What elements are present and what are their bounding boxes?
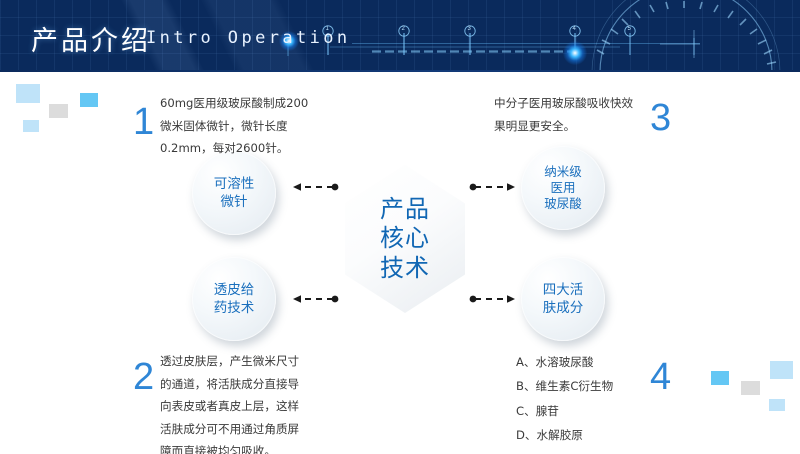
block-one-text: 60mg医用级玻尿酸制成200 微米固体微针，微针长度 0.2mm，每对2600… bbox=[160, 92, 308, 160]
block-four-list: A、水溶玻尿酸 B、维生素C衍生物 C、腺苷 D、水解胶原 bbox=[516, 350, 613, 447]
block-two-number: 2 bbox=[133, 356, 154, 399]
node-bl-line-2: 药技术 bbox=[214, 299, 255, 317]
header-glow-dot-right bbox=[563, 41, 587, 65]
block-three-line-1: 中分子医用玻尿酸吸收快效 bbox=[494, 92, 633, 115]
ruler-tick-1: 1 bbox=[326, 26, 329, 32]
node-top-left[interactable]: 可溶性 微针 bbox=[192, 151, 276, 235]
connector-top-right bbox=[467, 180, 525, 194]
decor-square-br-3 bbox=[711, 371, 729, 385]
node-bottom-right-label: 四大活 肤成分 bbox=[543, 281, 584, 317]
block-three-text: 中分子医用玻尿酸吸收快效 果明显更安全。 bbox=[494, 92, 633, 137]
block-one-number: 1 bbox=[133, 101, 154, 144]
block-two-line-3: 向表皮或者真皮上层，这样 bbox=[160, 395, 299, 418]
decor-square-tl-1 bbox=[16, 84, 40, 103]
node-bottom-left[interactable]: 透皮给 药技术 bbox=[192, 257, 276, 341]
ruler-tick-2: 2 bbox=[402, 26, 405, 32]
node-top-right[interactable]: 纳米级 医用 玻尿酸 bbox=[521, 146, 605, 230]
page-subtitle: Intro Operation bbox=[146, 28, 351, 48]
node-tr-line-1: 纳米级 bbox=[544, 164, 582, 180]
connector-top-left bbox=[283, 180, 341, 194]
ruler-tick-4: 4 bbox=[573, 26, 576, 32]
decor-square-tl-2 bbox=[49, 104, 68, 118]
decor-square-br-4 bbox=[769, 399, 785, 411]
hex-line-3: 技术 bbox=[380, 254, 430, 283]
node-bottom-left-label: 透皮给 药技术 bbox=[214, 281, 255, 317]
block-two-text: 透过皮肤层，产生微米尺寸 的通道，将活肤成分直接导 向表皮或者真皮上层，这样 活… bbox=[160, 350, 299, 454]
block-one-line-3: 0.2mm，每对2600针。 bbox=[160, 137, 308, 160]
node-bl-line-1: 透皮给 bbox=[214, 281, 255, 299]
block-three-line-2: 果明显更安全。 bbox=[494, 115, 633, 138]
block-two-line-2: 的通道，将活肤成分直接导 bbox=[160, 373, 299, 396]
connector-bottom-right bbox=[467, 292, 525, 306]
block-three-number: 3 bbox=[650, 97, 671, 140]
list-item: B、维生素C衍生物 bbox=[516, 374, 613, 398]
decor-square-br-1 bbox=[770, 361, 793, 379]
header-bottom-rule bbox=[0, 70, 800, 72]
node-tr-line-2: 医用 bbox=[544, 180, 582, 196]
block-one-line-1: 60mg医用级玻尿酸制成200 bbox=[160, 92, 308, 115]
connector-bottom-left bbox=[283, 292, 341, 306]
slide-header: 产品介绍 Intro Operation 1 2 3 4 5 bbox=[0, 0, 800, 72]
block-two-line-5: 障而直接被均匀吸收。 bbox=[160, 440, 299, 454]
page-title: 产品介绍 bbox=[31, 19, 151, 58]
block-two-line-1: 透过皮肤层，产生微米尺寸 bbox=[160, 350, 299, 373]
node-tl-line-2: 微针 bbox=[214, 193, 255, 211]
hex-line-1: 产品 bbox=[380, 195, 430, 224]
decor-square-tl-3 bbox=[80, 93, 98, 107]
hex-line-2: 核心 bbox=[380, 224, 430, 253]
block-one-line-2: 微米固体微针，微针长度 bbox=[160, 115, 308, 138]
ruler-tick-5: 5 bbox=[628, 26, 631, 32]
center-hexagon-label: 产品 核心 技术 bbox=[380, 195, 430, 283]
center-hexagon[interactable]: 产品 核心 技术 bbox=[345, 165, 465, 313]
ruler-tick-3: 3 bbox=[468, 26, 471, 32]
decor-square-br-2 bbox=[741, 381, 760, 395]
node-top-left-label: 可溶性 微针 bbox=[214, 175, 255, 211]
slide-root: 产品介绍 Intro Operation 1 2 3 4 5 产品 核心 技术 … bbox=[0, 0, 800, 454]
node-br-line-1: 四大活 bbox=[543, 281, 584, 299]
list-item: A、水溶玻尿酸 bbox=[516, 350, 613, 374]
node-bottom-right[interactable]: 四大活 肤成分 bbox=[521, 257, 605, 341]
list-item: D、水解胶原 bbox=[516, 423, 613, 447]
node-br-line-2: 肤成分 bbox=[543, 299, 584, 317]
node-top-right-label: 纳米级 医用 玻尿酸 bbox=[544, 164, 582, 213]
node-tl-line-1: 可溶性 bbox=[214, 175, 255, 193]
node-tr-line-3: 玻尿酸 bbox=[544, 196, 582, 212]
block-four-number: 4 bbox=[650, 356, 671, 399]
block-two-line-4: 活肤成分可不用通过角质屏 bbox=[160, 418, 299, 441]
decor-square-tl-4 bbox=[23, 120, 39, 132]
list-item: C、腺苷 bbox=[516, 399, 613, 423]
